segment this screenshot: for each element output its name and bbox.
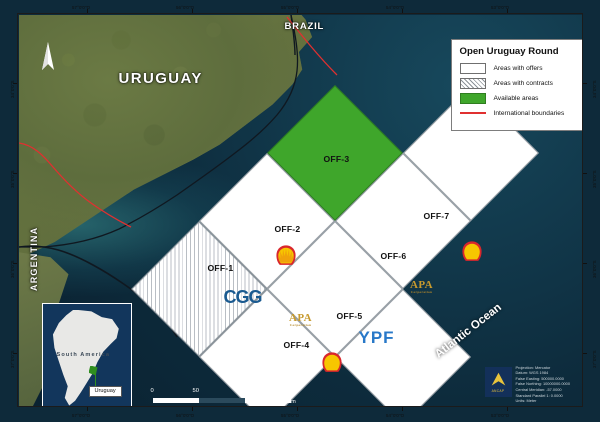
axis-label-lat-right: 34°0'0"S bbox=[592, 80, 597, 98]
axis-tick bbox=[583, 173, 587, 174]
axis-tick bbox=[13, 353, 17, 354]
map-figure: OFF-3 OFF-2 OFF-1 OFF-4 OFF-5 OFF-6 OFF-… bbox=[0, 0, 600, 422]
axis-tick bbox=[297, 407, 298, 411]
axis-tick bbox=[402, 9, 403, 13]
axis-tick bbox=[87, 9, 88, 13]
axis-tick bbox=[507, 9, 508, 13]
axis-tick bbox=[192, 9, 193, 13]
axis-tick bbox=[13, 173, 17, 174]
axis-label-lon-bottom: 55°0'0"O bbox=[281, 413, 299, 418]
axis-label-lat-right: 37°0'0"S bbox=[592, 350, 597, 368]
axis-label-lon-bottom: 53°0'0"O bbox=[491, 413, 509, 418]
axis-tick bbox=[13, 263, 17, 264]
axis-tick bbox=[583, 83, 587, 84]
axis-tick bbox=[192, 407, 193, 411]
axis-tick bbox=[297, 9, 298, 13]
axis-label-lon-bottom: 54°0'0"O bbox=[386, 413, 404, 418]
axis-tick bbox=[402, 407, 403, 411]
axis-label-lon-bottom: 56°0'0"O bbox=[176, 413, 194, 418]
axis-label-lon-bottom: 57°0'0"O bbox=[72, 413, 90, 418]
axis-tick bbox=[507, 407, 508, 411]
axis-tick bbox=[583, 353, 587, 354]
axis-tick bbox=[87, 407, 88, 411]
axis-tick bbox=[583, 263, 587, 264]
map-neatline bbox=[17, 13, 583, 407]
axis-label-lat-right: 35°0'0"S bbox=[592, 170, 597, 188]
axis-tick bbox=[13, 83, 17, 84]
axis-label-lat-right: 36°0'0"S bbox=[592, 260, 597, 278]
